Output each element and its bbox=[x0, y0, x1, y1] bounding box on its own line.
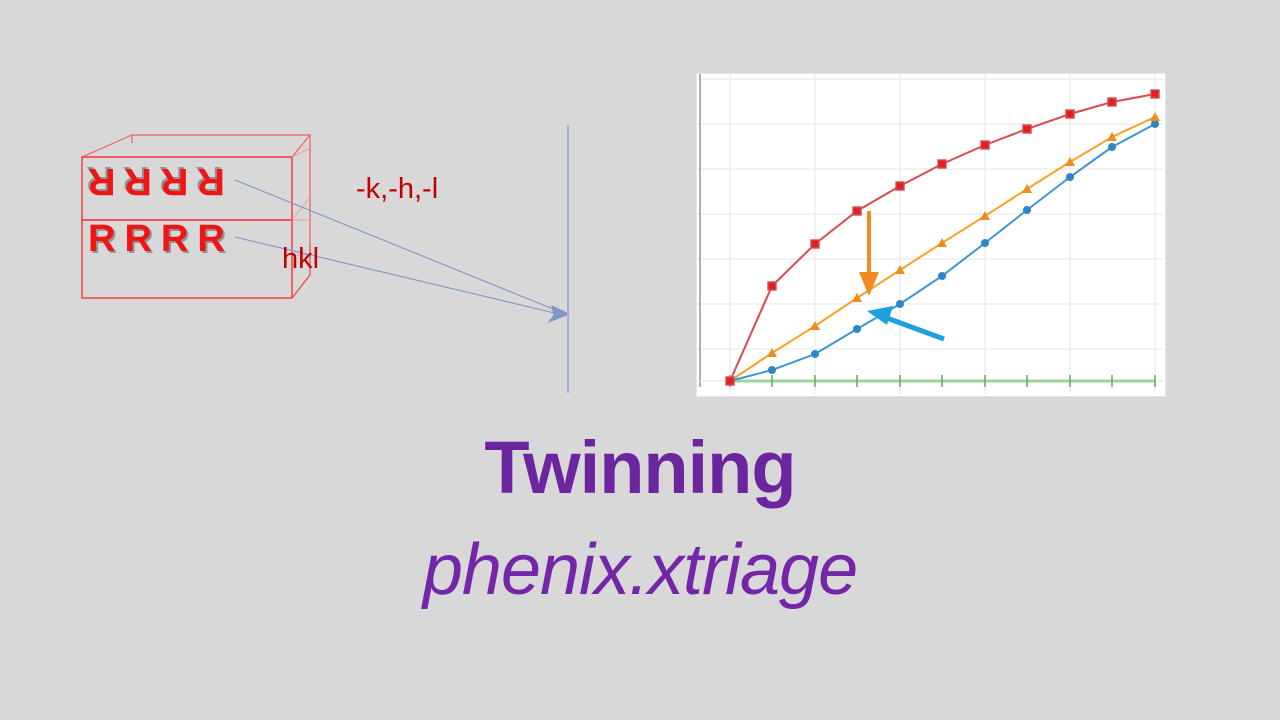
lattice-letter: R bbox=[161, 220, 188, 258]
page-subtitle: phenix.xtriage bbox=[0, 534, 1280, 607]
lattice-letter: R bbox=[124, 162, 151, 200]
reflection-label-minus-k-minus-h-minus-l: -k,-h,-l bbox=[356, 175, 438, 204]
lattice-letter: R bbox=[161, 162, 188, 200]
lattice-letter: R bbox=[124, 220, 151, 258]
plot-background bbox=[697, 74, 1163, 394]
cumulative-intensity-chart bbox=[696, 73, 1166, 397]
twinning-lattice-diagram: RRRR RRRR -k,-h,-l hkl bbox=[60, 125, 580, 425]
chart-svg bbox=[697, 74, 1163, 394]
lattice-letter: R bbox=[197, 220, 224, 258]
lattice-letter: R bbox=[88, 220, 115, 258]
lattice-row-twin: RRRR bbox=[88, 162, 225, 200]
reflection-label-hkl: hkl bbox=[282, 245, 319, 274]
lattice-letter: R bbox=[197, 162, 224, 200]
lattice-letter: R bbox=[88, 162, 115, 200]
lattice-row-original: RRRR bbox=[88, 220, 225, 258]
slide-canvas: RRRR RRRR -k,-h,-l hkl bbox=[0, 0, 1280, 720]
page-title: Twinning bbox=[0, 430, 1280, 505]
